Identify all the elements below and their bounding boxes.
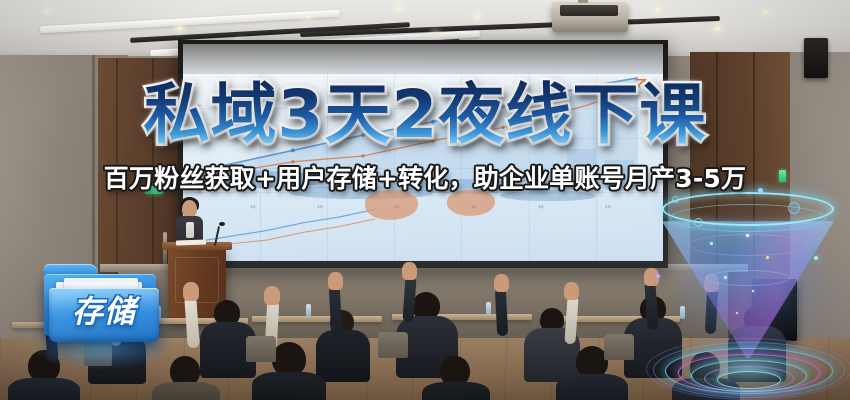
podium-papers	[176, 239, 206, 245]
storage-badge-label: 存储	[49, 294, 159, 330]
microphone-icon	[219, 222, 225, 226]
ceiling-projector	[552, 2, 628, 32]
wall-speaker	[804, 38, 828, 78]
storage-folder-badge: 存储	[38, 262, 166, 362]
promo-banner: 各渠道线下转化量	[0, 0, 850, 400]
subtitle: 百万粉丝获取+用户存储+转化，助企业单账号月产3-5万	[0, 163, 850, 195]
projection-screen: 各渠道线下转化量	[178, 40, 668, 268]
main-title: 私域3天2夜线下课	[0, 78, 850, 152]
